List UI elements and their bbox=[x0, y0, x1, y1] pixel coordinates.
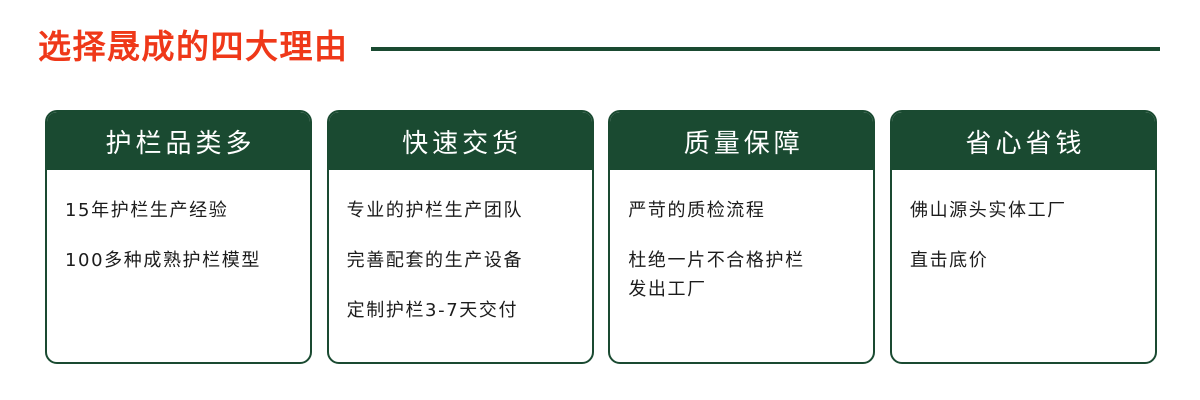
feature-card-4: 省心省钱 佛山源头实体工厂 直击底价 bbox=[890, 110, 1157, 364]
heading-row: 选择晟成的四大理由 bbox=[38, 22, 1160, 72]
feature-card-3: 质量保障 严苛的质检流程 杜绝一片不合格护栏 发出工厂 bbox=[608, 110, 875, 364]
feature-card-1: 护栏品类多 15年护栏生产经验 100多种成熟护栏模型 bbox=[45, 110, 312, 364]
feature-card-4-header: 省心省钱 bbox=[892, 112, 1155, 170]
feature-card-4-line-1: 佛山源头实体工厂 bbox=[910, 196, 1155, 225]
feature-card-2-line-3: 定制护栏3-7天交付 bbox=[347, 296, 592, 325]
feature-card-1-line-1: 15年护栏生产经验 bbox=[65, 196, 310, 225]
feature-card-4-body: 佛山源头实体工厂 直击底价 bbox=[892, 170, 1155, 362]
title-divider-rule bbox=[371, 47, 1161, 51]
feature-card-2-line-2: 完善配套的生产设备 bbox=[347, 246, 592, 275]
promo-banner: 选择晟成的四大理由 护栏品类多 15年护栏生产经验 100多种成熟护栏模型 快速… bbox=[0, 0, 1200, 400]
feature-card-list: 护栏品类多 15年护栏生产经验 100多种成熟护栏模型 快速交货 专业的护栏生产… bbox=[45, 110, 1157, 364]
feature-card-3-line-2: 杜绝一片不合格护栏 发出工厂 bbox=[628, 246, 873, 304]
feature-card-2-line-1: 专业的护栏生产团队 bbox=[347, 196, 592, 225]
feature-card-1-header: 护栏品类多 bbox=[47, 112, 310, 170]
feature-card-1-body: 15年护栏生产经验 100多种成熟护栏模型 bbox=[47, 170, 310, 362]
feature-card-2-body: 专业的护栏生产团队 完善配套的生产设备 定制护栏3-7天交付 bbox=[329, 170, 592, 362]
feature-card-3-line-1: 严苛的质检流程 bbox=[628, 196, 873, 225]
feature-card-4-line-2: 直击底价 bbox=[910, 246, 1155, 275]
feature-card-1-line-2: 100多种成熟护栏模型 bbox=[65, 246, 310, 275]
feature-card-3-header: 质量保障 bbox=[610, 112, 873, 170]
feature-card-3-body: 严苛的质检流程 杜绝一片不合格护栏 发出工厂 bbox=[610, 170, 873, 362]
page-title: 选择晟成的四大理由 bbox=[38, 25, 349, 69]
feature-card-2: 快速交货 专业的护栏生产团队 完善配套的生产设备 定制护栏3-7天交付 bbox=[327, 110, 594, 364]
feature-card-2-header: 快速交货 bbox=[329, 112, 592, 170]
